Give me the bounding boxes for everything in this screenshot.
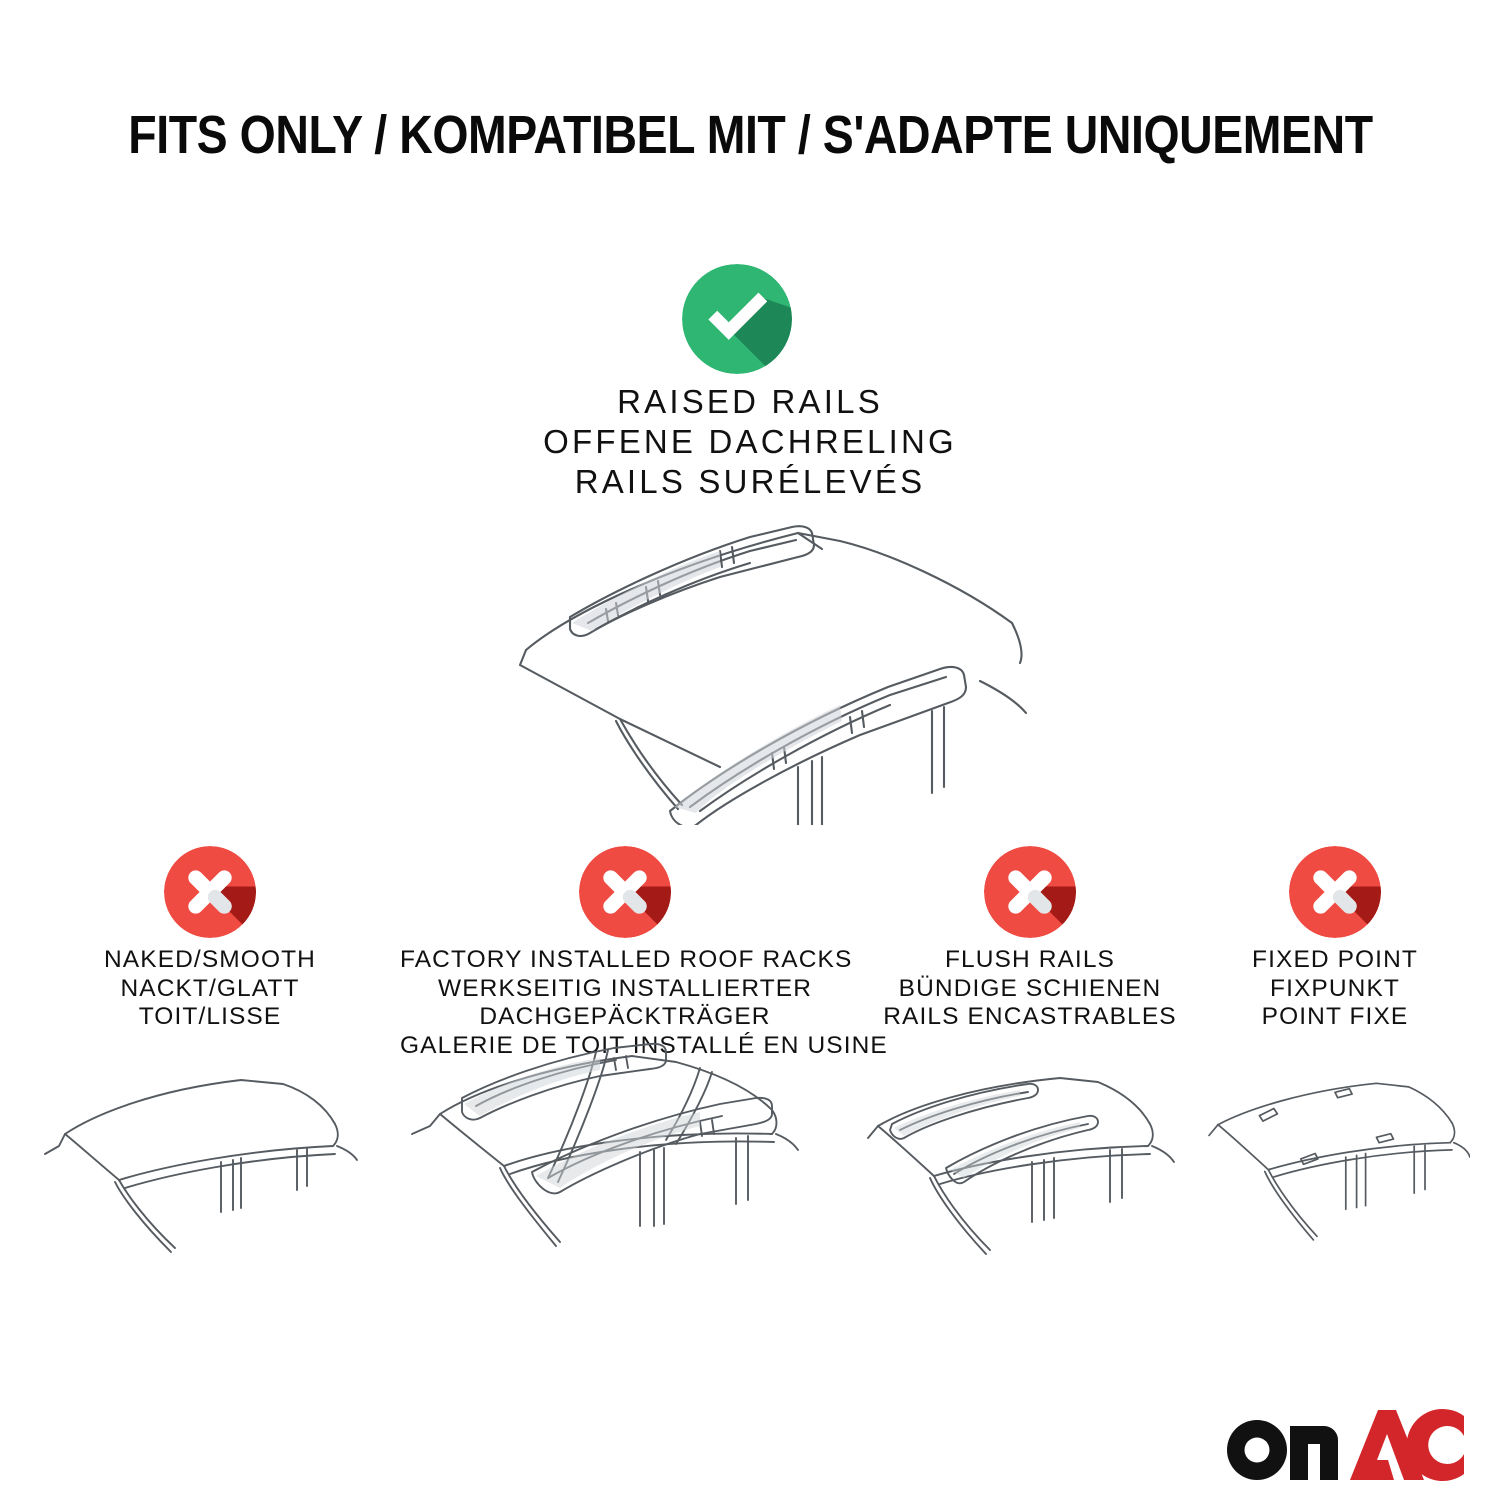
option-caption-line-2: NACKT/GLATT <box>35 975 385 1004</box>
option-caption-line-2: FIXPUNKT <box>1200 975 1470 1004</box>
compatible-caption-line-2: OFFENE DACHRELING <box>400 422 1100 462</box>
logo-letter-m <box>1290 1426 1338 1480</box>
option-caption: FIXED POINT FIXPUNKT POINT FIXE <box>1200 946 1470 1032</box>
page-title-text: FITS ONLY / KOMPATIBEL MIT / S'ADAPTE UN… <box>128 104 1372 166</box>
option-caption: FLUSH RAILS BÜNDIGE SCHIENEN RAILS ENCAS… <box>860 946 1200 1032</box>
option-caption-line-3: POINT FIXE <box>1200 1003 1470 1032</box>
page-title: FITS ONLY / KOMPATIBEL MIT / S'ADAPTE UN… <box>0 104 1500 166</box>
option-caption-line-3: TOIT/LISSE <box>35 1003 385 1032</box>
option-caption-line-3: DACHGEPÄCKTRÄGER <box>400 1003 850 1032</box>
compatible-caption-line-3: RAILS SURÉLEVÉS <box>400 462 1100 502</box>
car-roof-factory-racks-illustration <box>400 1036 850 1266</box>
check-circle-icon <box>682 264 792 374</box>
cross-circle-icon <box>1289 846 1381 938</box>
option-caption-line-1: FIXED POINT <box>1200 946 1470 975</box>
option-caption-line-2: WERKSEITIG INSTALLIERTER <box>400 975 850 1004</box>
omac-logo <box>1220 1408 1464 1482</box>
car-roof-flush-rails-illustration <box>860 1062 1200 1272</box>
cross-circle-icon <box>164 846 256 938</box>
car-roof-raised-rails-illustration <box>420 505 1080 825</box>
option-caption-line-2: BÜNDIGE SCHIENEN <box>860 975 1200 1004</box>
option-caption-line-3: RAILS ENCASTRABLES <box>860 1003 1200 1032</box>
logo-letter-o <box>1227 1420 1287 1480</box>
car-roof-fixed-point-illustration <box>1200 1062 1470 1272</box>
option-caption-line-1: NAKED/SMOOTH <box>35 946 385 975</box>
cross-circle-icon <box>984 846 1076 938</box>
compatible-caption: RAISED RAILS OFFENE DACHRELING RAILS SUR… <box>400 382 1100 502</box>
option-caption: NAKED/SMOOTH NACKT/GLATT TOIT/LISSE <box>35 946 385 1032</box>
option-caption-line-1: FACTORY INSTALLED ROOF RACKS <box>400 946 850 975</box>
option-caption-line-1: FLUSH RAILS <box>860 946 1200 975</box>
compatible-caption-line-1: RAISED RAILS <box>400 382 1100 422</box>
car-roof-naked-illustration <box>35 1062 385 1272</box>
cross-circle-icon <box>579 846 671 938</box>
